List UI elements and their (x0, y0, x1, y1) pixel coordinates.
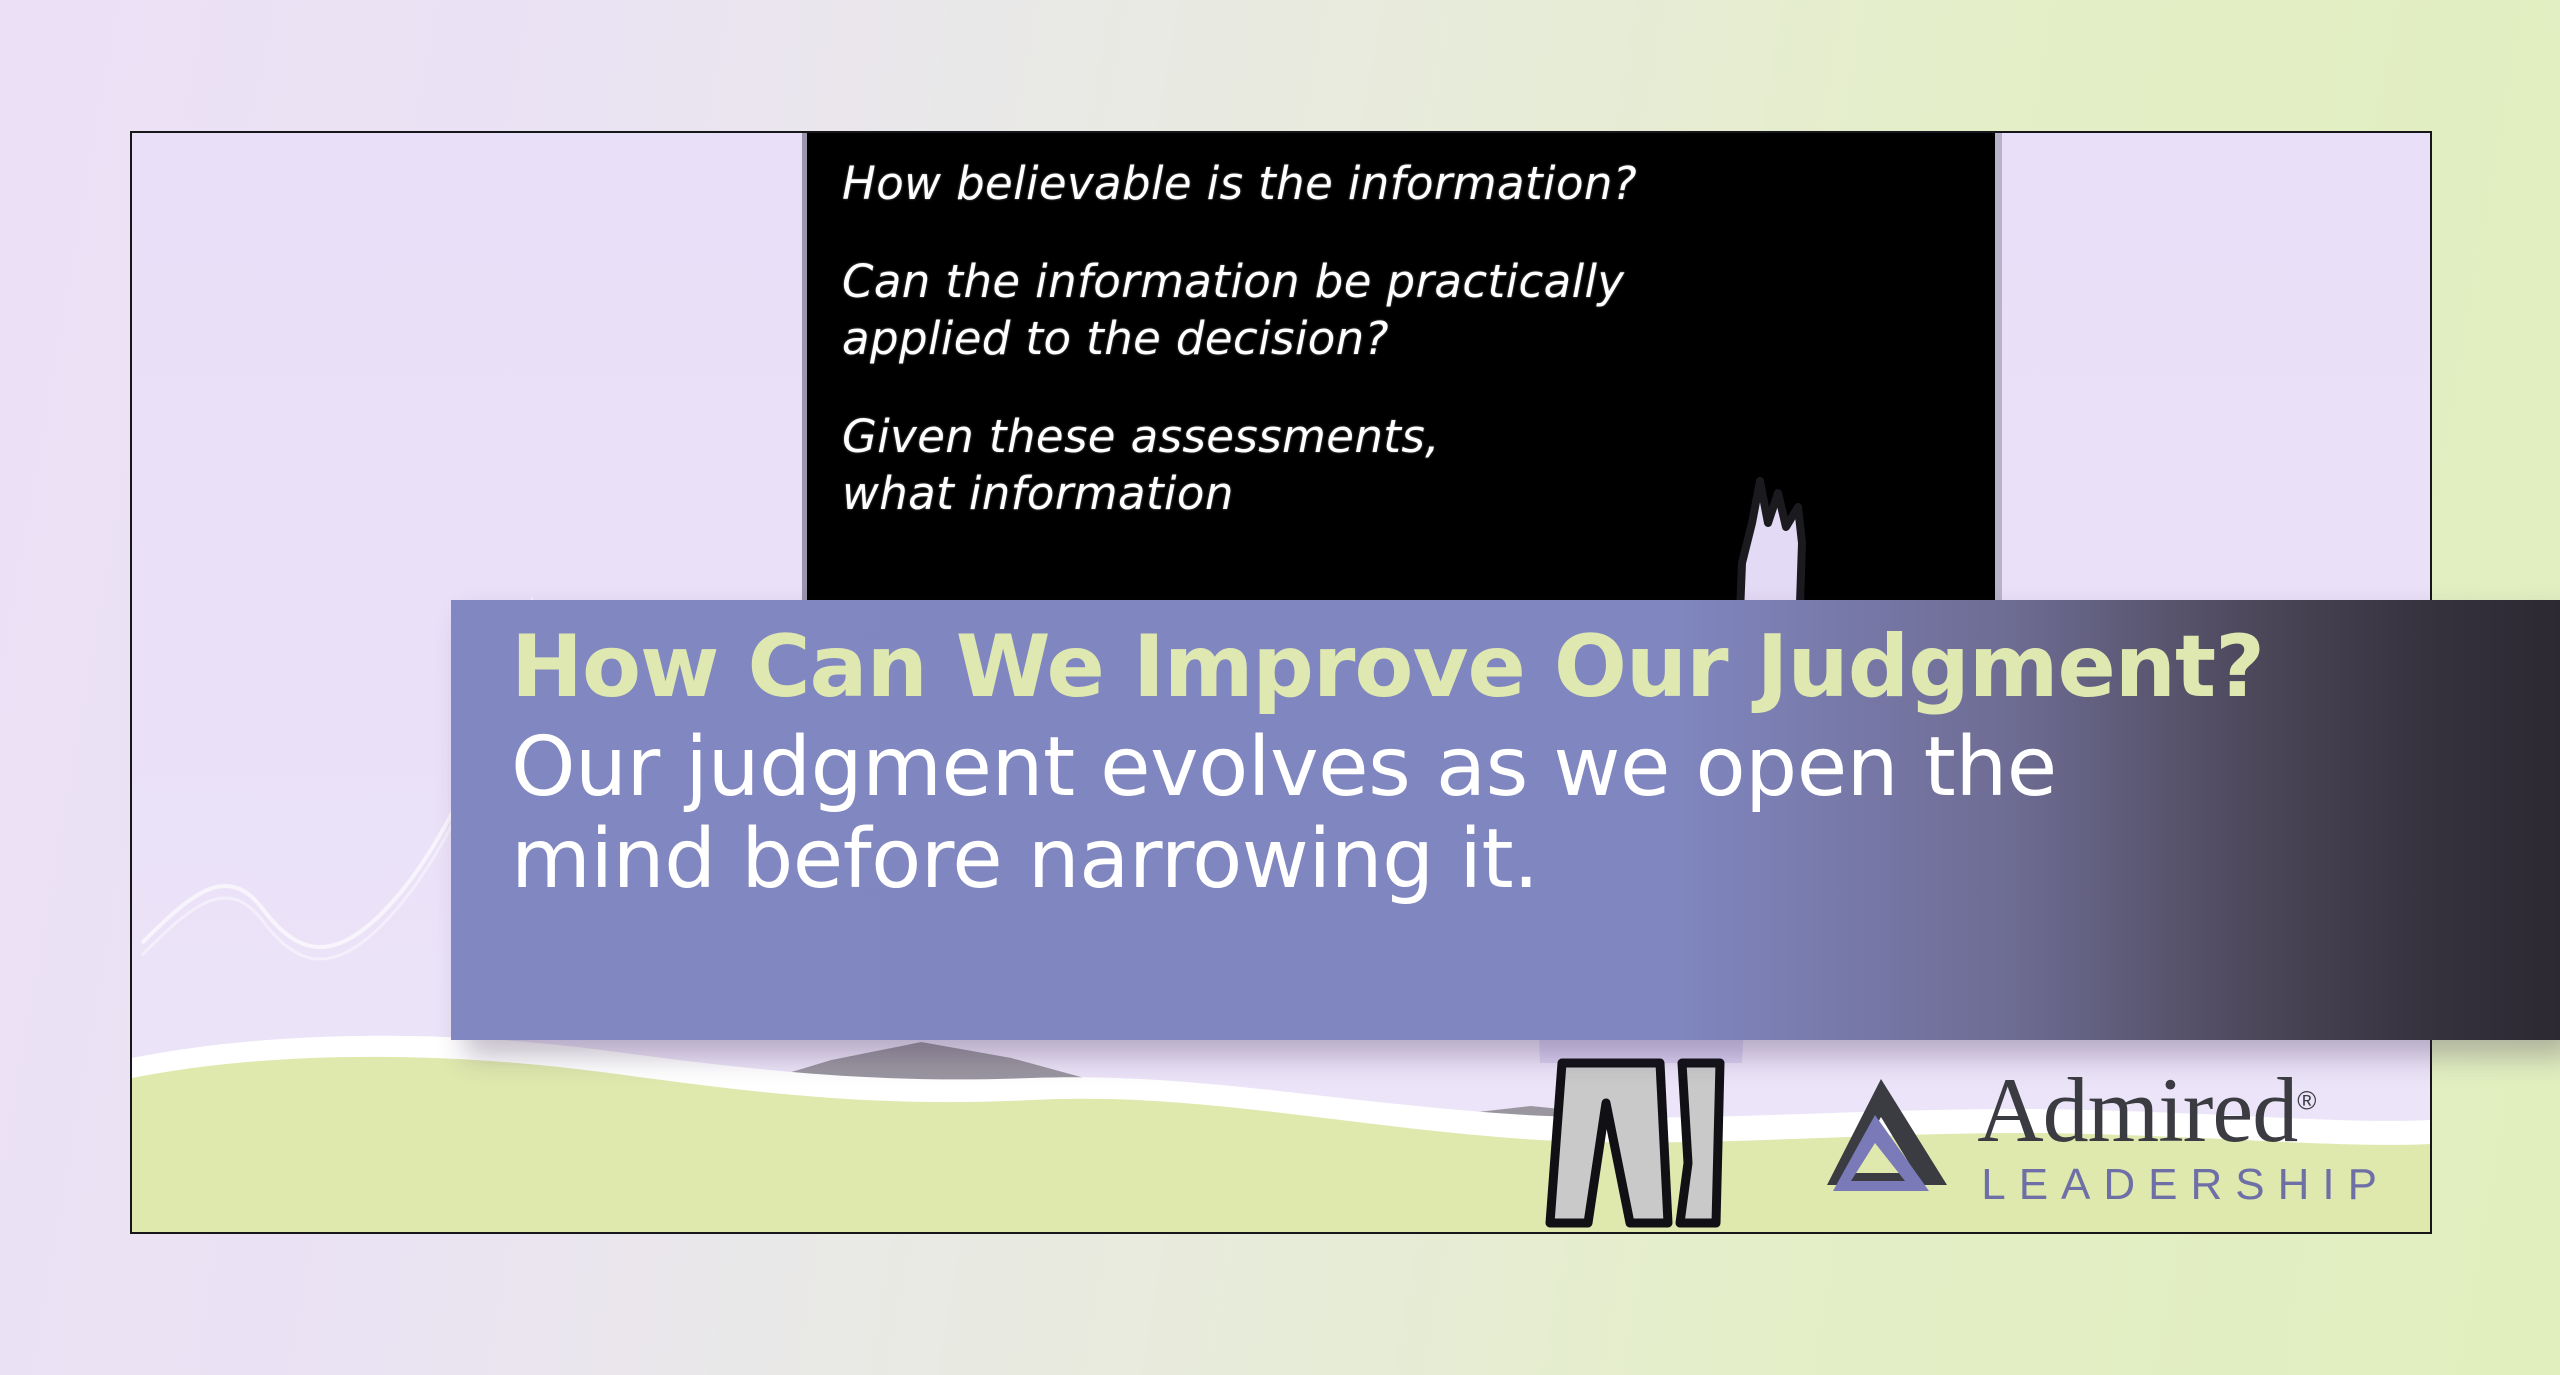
brand-name-text: Admired (1977, 1059, 2297, 1161)
caption-bar: How Can We Improve Our Judgment? Our jud… (451, 600, 2560, 1040)
admired-triangle-icon (1819, 1073, 1959, 1193)
chalk-line-2: Can the information be practically appli… (842, 253, 1995, 368)
brand-name: Admired® (1977, 1067, 2390, 1154)
registered-mark: ® (2297, 1085, 2315, 1115)
brand-tagline: LEADERSHIP (1981, 1160, 2390, 1210)
chalk-line-1: How believable is the information? (842, 155, 1995, 213)
caption-title: How Can We Improve Our Judgment? (511, 622, 2560, 712)
brand-logo: Admired® LEADERSHIP (1819, 1067, 2390, 1210)
logo-wordmark: Admired® LEADERSHIP (1977, 1067, 2390, 1210)
caption-subtitle: Our judgment evolves as we open the mind… (511, 722, 2560, 906)
